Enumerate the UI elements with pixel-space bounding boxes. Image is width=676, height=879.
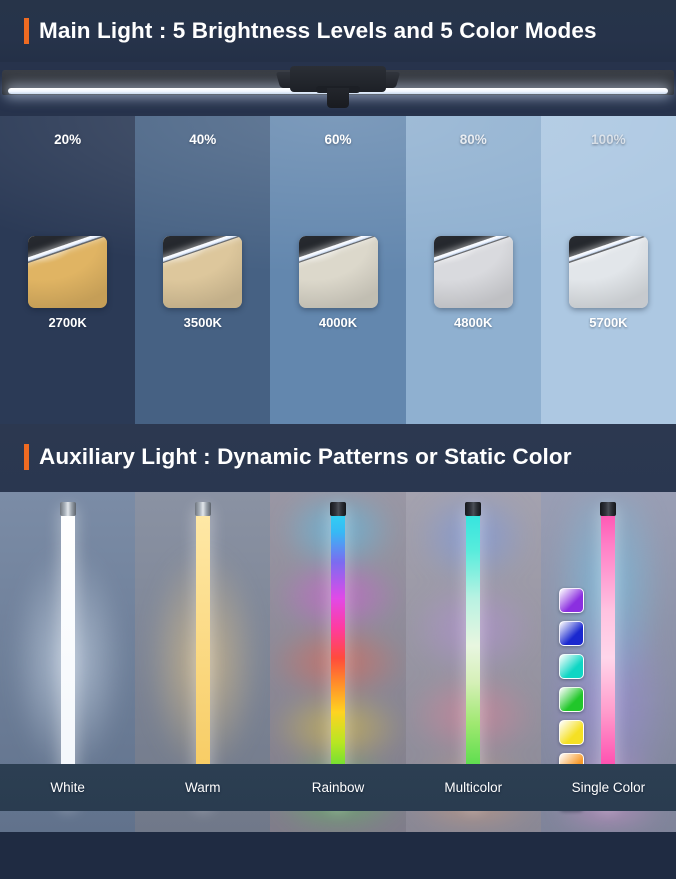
auxiliary-light-section: Auxiliary Light : Dynamic Patterns or St… bbox=[0, 424, 676, 879]
color-temperature-cell-2700K: 2700K bbox=[0, 236, 135, 336]
auxiliary-mode-column-white bbox=[0, 492, 135, 879]
color-temperature-label: 3500K bbox=[184, 315, 222, 330]
color-temperature-row: 2700K3500K4000K4800K5700K bbox=[0, 236, 676, 336]
auxiliary-mode-columns bbox=[0, 492, 676, 879]
brightness-label: 60% bbox=[270, 132, 405, 147]
tube-body bbox=[331, 508, 345, 808]
color-swatch-green[interactable] bbox=[559, 687, 584, 712]
color-swatch-blue[interactable] bbox=[559, 621, 584, 646]
color-temperature-cell-3500K: 3500K bbox=[135, 236, 270, 336]
brightness-label: 20% bbox=[0, 132, 135, 147]
tube-cap-top bbox=[195, 502, 211, 516]
tube-body bbox=[61, 508, 75, 808]
aux-light-heading-band: Auxiliary Light : Dynamic Patterns or St… bbox=[0, 424, 676, 492]
light-tube bbox=[196, 508, 210, 808]
tube-body bbox=[196, 508, 210, 808]
accent-bar-icon bbox=[24, 18, 29, 44]
light-tube bbox=[601, 508, 615, 808]
color-temperature-label: 2700K bbox=[48, 315, 86, 330]
brightness-label: 40% bbox=[135, 132, 270, 147]
auxiliary-mode-column-multicolor bbox=[406, 492, 541, 879]
auxiliary-mode-label-rainbow: Rainbow bbox=[270, 764, 405, 811]
color-temperature-cell-4800K: 4800K bbox=[406, 236, 541, 336]
light-tube bbox=[331, 508, 345, 808]
accent-bar-icon bbox=[24, 444, 29, 470]
tube-cap-top bbox=[60, 502, 76, 516]
auxiliary-caption-row: WhiteWarmRainbowMulticolorSingle Color bbox=[0, 764, 676, 811]
auxiliary-mode-label-warm: Warm bbox=[135, 764, 270, 811]
color-swatch-yellow[interactable] bbox=[559, 720, 584, 745]
auxiliary-mode-column-single-color bbox=[541, 492, 676, 879]
color-temperature-label: 4000K bbox=[319, 315, 357, 330]
color-swatch-cyan[interactable] bbox=[559, 654, 584, 679]
auxiliary-mode-column-warm bbox=[135, 492, 270, 879]
color-temperature-swatch bbox=[28, 236, 107, 308]
color-temperature-swatch bbox=[434, 236, 513, 308]
brightness-label: 100% bbox=[541, 132, 676, 147]
tube-body bbox=[466, 508, 480, 808]
light-tube bbox=[466, 508, 480, 808]
brightness-label: 80% bbox=[406, 132, 541, 147]
color-temperature-swatch bbox=[163, 236, 242, 308]
aux-light-heading-row: Auxiliary Light : Dynamic Patterns or St… bbox=[24, 444, 572, 470]
tube-cap-top bbox=[465, 502, 481, 516]
color-swatch-purple[interactable] bbox=[559, 588, 584, 613]
aux-light-heading-text: Auxiliary Light : Dynamic Patterns or St… bbox=[39, 444, 572, 470]
light-tube bbox=[61, 508, 75, 808]
lamp-fixture-illustration bbox=[0, 66, 676, 116]
lamp-stem bbox=[327, 88, 349, 108]
color-temperature-cell-5700K: 5700K bbox=[541, 236, 676, 336]
tube-cap-top bbox=[330, 502, 346, 516]
color-temperature-cell-4000K: 4000K bbox=[270, 236, 405, 336]
tube-body bbox=[601, 508, 615, 808]
color-temperature-label: 4800K bbox=[454, 315, 492, 330]
infographic-page: 20%40%60%80%100% Main Light : 5 Brightne… bbox=[0, 0, 676, 879]
tube-cap-top bbox=[600, 502, 616, 516]
main-light-heading-band: Main Light : 5 Brightness Levels and 5 C… bbox=[0, 0, 676, 62]
main-light-heading-row: Main Light : 5 Brightness Levels and 5 C… bbox=[24, 18, 597, 44]
main-light-heading-text: Main Light : 5 Brightness Levels and 5 C… bbox=[39, 18, 597, 44]
auxiliary-mode-label-single-color: Single Color bbox=[541, 764, 676, 811]
auxiliary-mode-label-white: White bbox=[0, 764, 135, 811]
main-light-section: 20%40%60%80%100% Main Light : 5 Brightne… bbox=[0, 0, 676, 492]
color-temperature-swatch bbox=[299, 236, 378, 308]
color-temperature-swatch bbox=[569, 236, 648, 308]
color-temperature-label: 5700K bbox=[589, 315, 627, 330]
auxiliary-mode-column-rainbow bbox=[270, 492, 405, 879]
auxiliary-mode-label-multicolor: Multicolor bbox=[406, 764, 541, 811]
